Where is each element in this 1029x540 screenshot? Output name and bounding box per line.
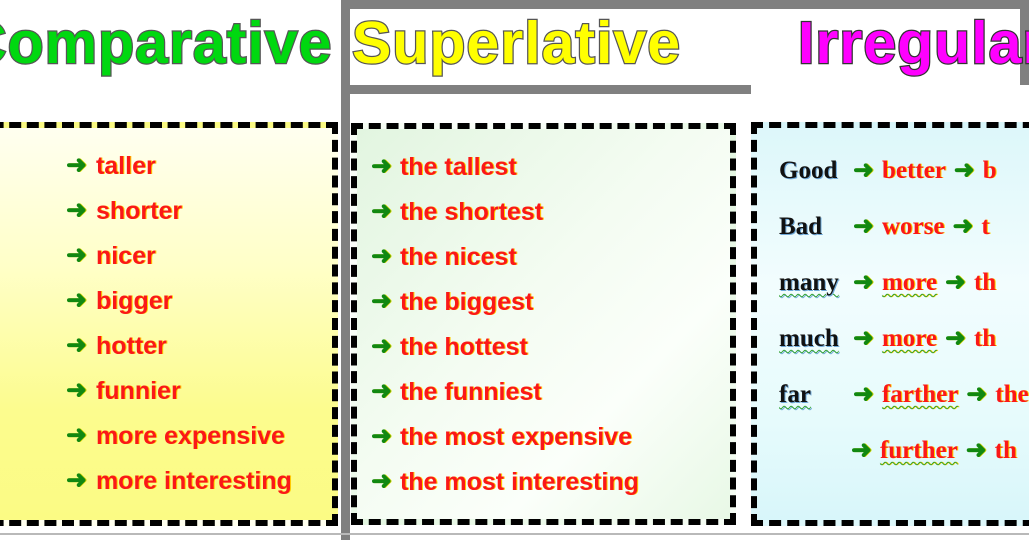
arrow-right-icon: ➜ (853, 214, 874, 239)
arrow-right-icon: ➜ (66, 378, 87, 403)
irregular-row: much➜more➜th (779, 311, 1029, 367)
arrow-right-icon: ➜ (371, 289, 392, 314)
list-item: ➜more expensive (66, 414, 338, 459)
heading-comparative: Comparative (0, 14, 332, 73)
irregular-comparative: more (882, 325, 937, 353)
arrow-right-icon: ➜ (371, 154, 392, 179)
panel-superlative: ➜the tallest➜the shortest➜the nicest➜the… (351, 123, 736, 525)
list-item: ➜the shortest (371, 190, 736, 235)
list-item: ➜the most interesting (371, 460, 736, 505)
list-item-label: funnier (96, 377, 181, 406)
list-item-label: taller (96, 152, 156, 181)
list-item: ➜the biggest (371, 280, 736, 325)
arrow-right-icon: ➜ (954, 158, 975, 183)
irregular-superlative-clipped: th (974, 325, 996, 353)
list-item: ➜more interesting (66, 459, 338, 504)
irregular-superlative-clipped: b (983, 157, 997, 185)
list-item-label: the biggest (400, 288, 533, 317)
irregular-row: Good➜better➜b (779, 143, 1029, 199)
arrow-right-icon: ➜ (371, 244, 392, 269)
window-frame-inner-left-bar (341, 94, 350, 540)
irregular-row: ➜further➜th (779, 423, 1029, 479)
arrow-right-icon: ➜ (853, 270, 874, 295)
list-item: ➜the nicest (371, 235, 736, 280)
arrow-right-icon: ➜ (371, 379, 392, 404)
heading-irregular: Irregular (798, 14, 1029, 73)
arrow-right-icon: ➜ (853, 326, 874, 351)
heading-superlative: Superlative (352, 14, 681, 73)
irregular-base-word: Bad (779, 213, 853, 241)
bottom-hairline (0, 533, 1029, 535)
list-item-label: the most expensive (400, 423, 632, 452)
window-frame-inner-top-bar (341, 85, 751, 94)
arrow-right-icon: ➜ (371, 199, 392, 224)
arrow-right-icon: ➜ (966, 382, 987, 407)
list-item: ➜funnier (66, 369, 338, 414)
arrow-right-icon: ➜ (952, 214, 973, 239)
screenshot-stage: Comparative Superlative Irregular ➜talle… (0, 0, 1029, 540)
arrow-right-icon: ➜ (371, 469, 392, 494)
list-item-label: hotter (96, 332, 167, 361)
list-item: ➜taller (66, 144, 338, 189)
irregular-base-word: much (779, 325, 853, 353)
list-superlative: ➜the tallest➜the shortest➜the nicest➜the… (357, 129, 736, 505)
irregular-row: many➜more➜th (779, 255, 1029, 311)
irregular-superlative-clipped: t (981, 213, 989, 241)
arrow-right-icon: ➜ (66, 333, 87, 358)
list-item-label: the tallest (400, 153, 517, 182)
irregular-row: Bad➜worse➜t (779, 199, 1029, 255)
irregular-comparative: farther (882, 381, 958, 409)
arrow-right-icon: ➜ (945, 270, 966, 295)
list-item-label: the most interesting (400, 468, 639, 497)
list-item-label: more expensive (96, 422, 285, 451)
irregular-base-word: many (779, 269, 853, 297)
list-item-label: the hottest (400, 333, 528, 362)
irregular-comparative: more (882, 269, 937, 297)
irregular-comparative: better (882, 157, 946, 185)
irregular-base-word: Good (779, 157, 853, 185)
arrow-right-icon: ➜ (371, 424, 392, 449)
irregular-comparative: worse (882, 213, 944, 241)
list-item-label: the shortest (400, 198, 543, 227)
list-item: ➜the hottest (371, 325, 736, 370)
list-item-label: the nicest (400, 243, 517, 272)
list-item: ➜hotter (66, 324, 338, 369)
panel-comparative: ➜taller➜shorter➜nicer➜bigger➜hotter➜funn… (0, 122, 338, 526)
arrow-right-icon: ➜ (66, 288, 87, 313)
arrow-right-icon: ➜ (851, 438, 872, 463)
list-item-label: more interesting (96, 467, 292, 496)
list-comparative: ➜taller➜shorter➜nicer➜bigger➜hotter➜funn… (0, 128, 338, 504)
arrow-right-icon: ➜ (853, 382, 874, 407)
list-item-label: bigger (96, 287, 172, 316)
arrow-right-icon: ➜ (853, 158, 874, 183)
irregular-row: far➜farther➜the (779, 367, 1029, 423)
list-irregular: Good➜better➜bBad➜worse➜tmany➜more➜thmuch… (757, 128, 1029, 479)
list-item: ➜bigger (66, 279, 338, 324)
irregular-superlative-clipped: the (995, 381, 1028, 409)
list-item-label: the funniest (400, 378, 542, 407)
irregular-superlative-clipped: th (974, 269, 996, 297)
arrow-right-icon: ➜ (66, 153, 87, 178)
arrow-right-icon: ➜ (966, 438, 987, 463)
list-item-label: shorter (96, 197, 182, 226)
irregular-comparative: further (880, 437, 958, 465)
list-item: ➜the tallest (371, 145, 736, 190)
list-item: ➜the funniest (371, 370, 736, 415)
arrow-right-icon: ➜ (66, 243, 87, 268)
irregular-base-word: far (779, 381, 853, 409)
irregular-superlative-clipped: th (995, 437, 1017, 465)
window-frame-left-edge-upper (341, 9, 350, 85)
arrow-right-icon: ➜ (66, 423, 87, 448)
arrow-right-icon: ➜ (66, 468, 87, 493)
list-item: ➜nicer (66, 234, 338, 279)
list-item: ➜the most expensive (371, 415, 736, 460)
arrow-right-icon: ➜ (945, 326, 966, 351)
arrow-right-icon: ➜ (66, 198, 87, 223)
arrow-right-icon: ➜ (371, 334, 392, 359)
list-item-label: nicer (96, 242, 156, 271)
panel-irregular: Good➜better➜bBad➜worse➜tmany➜more➜thmuch… (751, 122, 1029, 526)
window-frame-top-bar (341, 0, 1029, 9)
list-item: ➜shorter (66, 189, 338, 234)
